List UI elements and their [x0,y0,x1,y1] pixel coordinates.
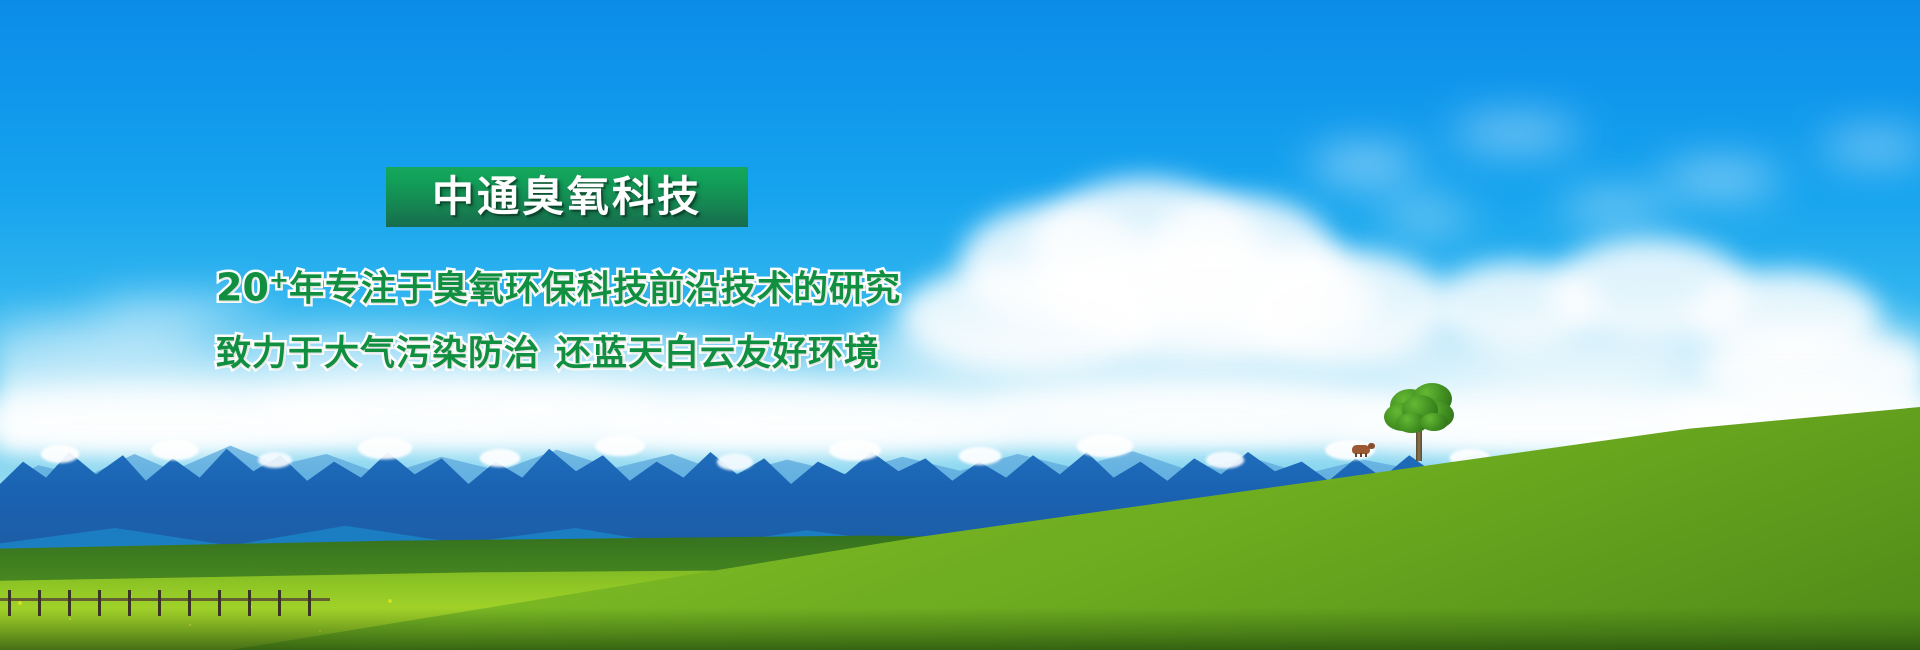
cow-leg [1365,453,1367,457]
slogan-line-2: 致力于大气污染防治还蓝天白云友好环境 [216,337,996,372]
cloud-puff [1560,196,1670,220]
slogan-line-1-text: 年专注于臭氧环保科技前沿技术的研究 [289,270,901,310]
fence-post [218,590,221,616]
cloud-puff [1380,205,1470,227]
fence-post [248,590,251,616]
cloud-puff [1310,150,1420,180]
slogan-years-number: 20 [216,266,269,310]
cloud-puff [1450,120,1580,146]
fence-post [8,590,11,616]
grazing-cow [1352,443,1374,457]
cloud-puff [1660,165,1780,193]
brand-title-plaque[interactable]: 中通臭氧科技 [386,167,748,227]
cow-leg [1355,453,1357,457]
hero-banner: 中通臭氧科技 20+年专注于臭氧环保科技前沿技术的研究 致力于大气污染防治还蓝天… [0,0,1920,650]
slogan-plus-superscript: + [269,266,289,294]
fence-post [308,590,311,616]
fence-post [98,590,101,616]
cloud-puff [1820,135,1920,159]
fence-post [158,590,161,616]
fence-post [188,590,191,616]
fence-post [128,590,131,616]
fence-post [68,590,71,616]
slogan-line-1: 20+年专注于臭氧环保科技前沿技术的研究 [216,268,996,308]
slogan-line-2-part-2: 还蓝天白云友好环境 [556,334,880,374]
slogan-line-2-part-1: 致力于大气污染防治 [216,334,540,374]
lone-tree-icon [1380,383,1460,461]
cow-leg [1360,453,1362,457]
fence-post [38,590,41,616]
cow-head [1368,443,1375,449]
brand-title-text: 中通臭氧科技 [432,176,702,218]
wooden-fence [0,584,330,620]
fence-post [278,590,281,616]
tree-canopy [1420,413,1448,431]
